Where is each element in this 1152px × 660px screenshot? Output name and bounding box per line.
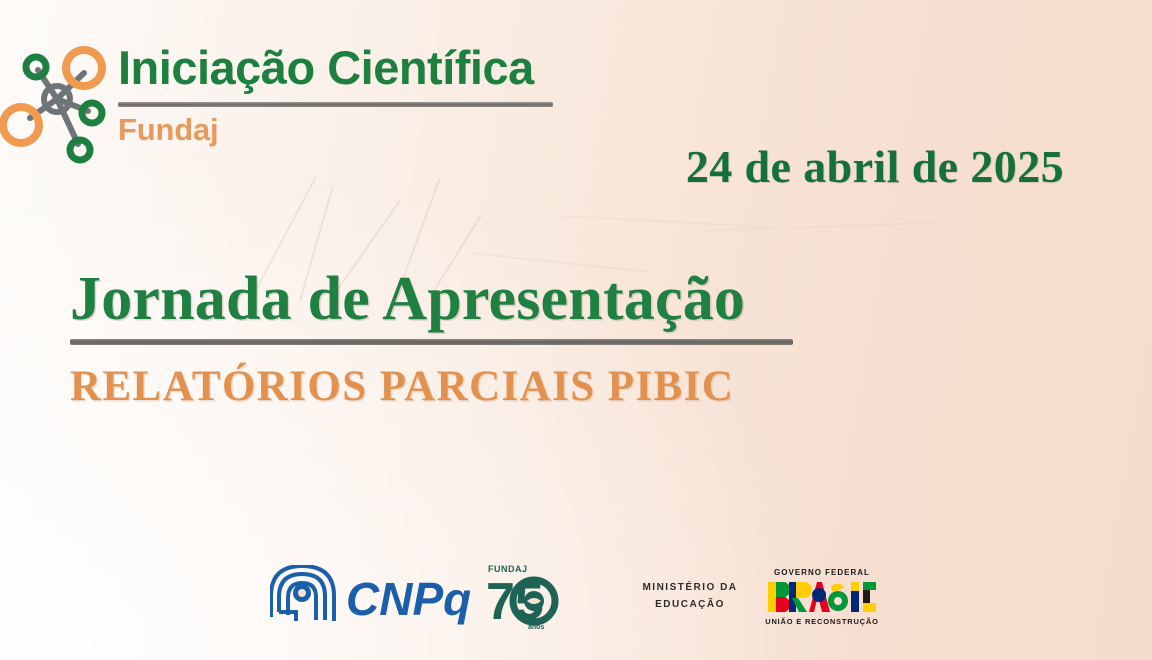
page-title: Jornada de Apresentação [70, 268, 830, 331]
mec-line-1: MINISTÉRIO DA [642, 579, 737, 596]
network-nodes-icon [0, 26, 118, 166]
mec-line-2: EDUCAÇÃO [642, 596, 737, 613]
fundaj-75-logo-icon: FUNDAJ 75 anos [482, 561, 560, 631]
brand-text-block: Iniciação Científica Fundaj [118, 26, 553, 145]
mec-text-block: MINISTÉRIO DA EDUCAÇÃO [642, 579, 737, 613]
headline-block: Jornada de Apresentação RELATÓRIOS PARCI… [70, 268, 830, 411]
gov-br-bottom-label: UNIÃO E RECONSTRUÇÃO [765, 617, 879, 626]
cnpq-logo: CNPq [270, 565, 470, 627]
brand-lockup: Iniciação Científica Fundaj [0, 26, 553, 166]
presentation-slide: Iniciação Científica Fundaj 24 de abril … [0, 0, 1152, 660]
headline-divider [70, 339, 793, 345]
background-watermark-stroke [700, 222, 940, 232]
event-date: 24 de abril de 2025 [686, 140, 1064, 193]
cnpq-wordmark: CNPq [346, 573, 470, 625]
page-subtitle: RELATÓRIOS PARCIAIS PIBIC [70, 362, 830, 411]
gov-br-logo-icon: GOVERNO FEDERAL [762, 565, 882, 627]
gov-br-top-label: GOVERNO FEDERAL [774, 568, 870, 577]
brand-title: Iniciação Científica [118, 44, 553, 91]
cnpq-logo-icon: CNPq [270, 565, 470, 627]
brand-divider [118, 102, 553, 107]
fundaj-75-bottom-label: anos [528, 624, 544, 631]
gov-br-logo: GOVERNO FEDERAL [762, 565, 882, 627]
footer-logo-strip: CNPq FUNDAJ 75 anos MINISTÉRIO DA EDUCAÇ… [0, 550, 1152, 642]
background-watermark-stroke [560, 215, 770, 228]
brand-subtitle: Fundaj [118, 114, 553, 145]
mec-logo: MINISTÉRIO DA EDUCAÇÃO [630, 579, 750, 613]
fundaj-75-logo: FUNDAJ 75 anos [482, 561, 560, 631]
